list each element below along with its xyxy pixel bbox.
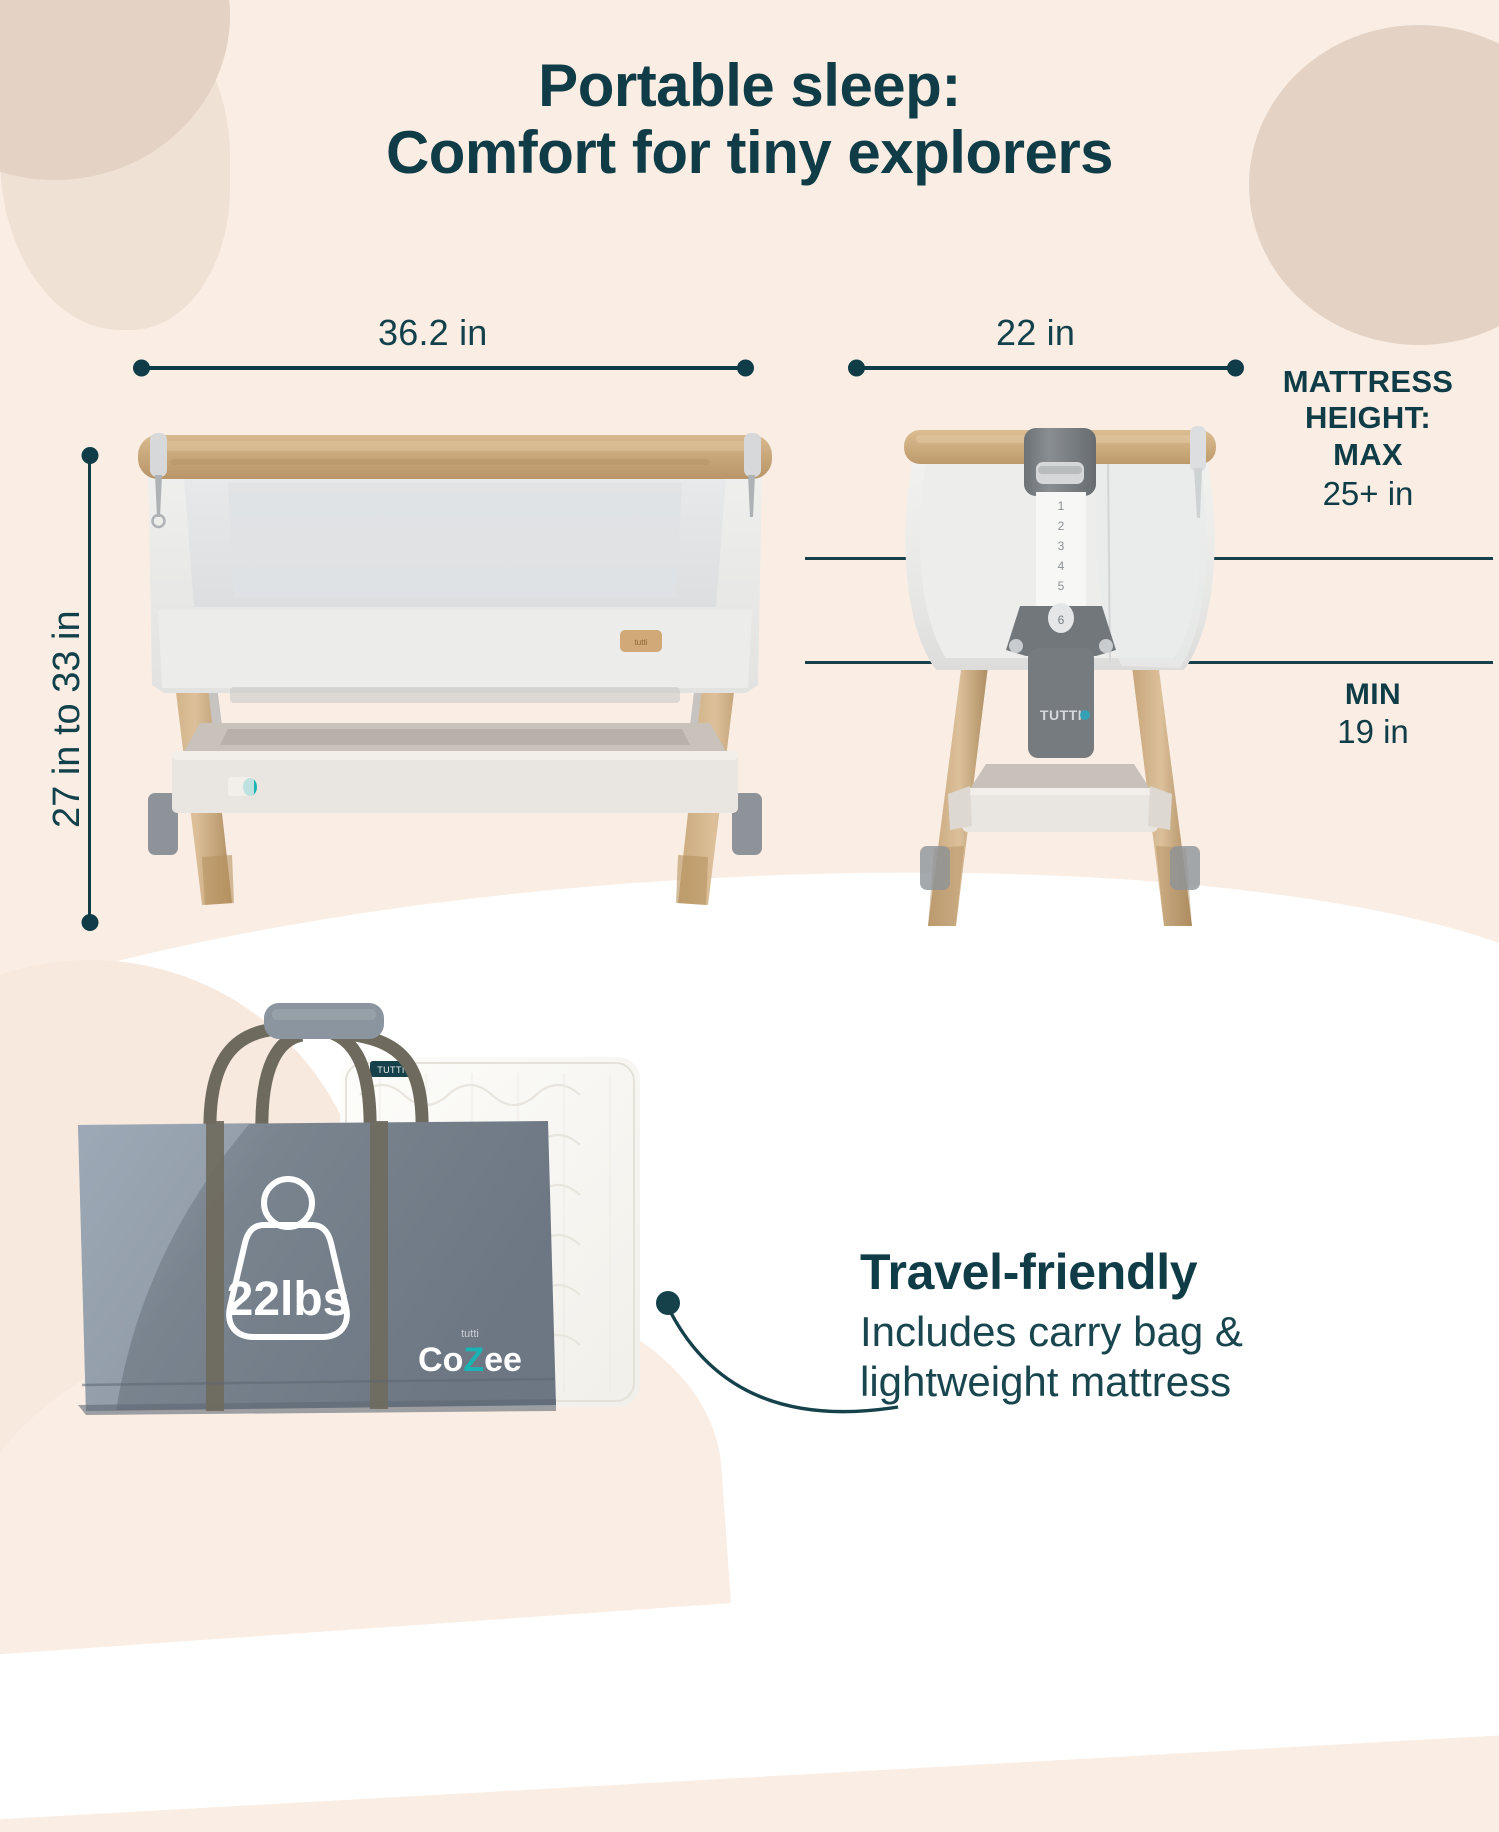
bassinet-front-view: tutti bbox=[110, 425, 800, 940]
feature-heading: Travel-friendly bbox=[860, 1243, 1460, 1301]
svg-text:3: 3 bbox=[1058, 539, 1065, 553]
mattress-height-title-2: HEIGHT: bbox=[1248, 400, 1488, 436]
travel-friendly-feature: Travel-friendly Includes carry bag & lig… bbox=[860, 1243, 1460, 1406]
feature-line-1: Includes carry bag & bbox=[860, 1307, 1460, 1357]
svg-text:1: 1 bbox=[1058, 499, 1065, 513]
feature-description: Includes carry bag & lightweight mattres… bbox=[860, 1307, 1460, 1406]
svg-text:6: 6 bbox=[1058, 613, 1065, 627]
bassinet-side-view: 1 2 3 4 5 6 TUTTI bbox=[860, 418, 1260, 948]
front-width-label: 36.2 in bbox=[378, 312, 488, 354]
mattress-height-max-value: 25+ in bbox=[1248, 475, 1488, 513]
svg-text:TUTTI: TUTTI bbox=[377, 1065, 405, 1075]
mattress-height-max-callout: MATTRESS HEIGHT: MAX 25+ in bbox=[1248, 364, 1488, 513]
svg-text:5: 5 bbox=[1058, 579, 1065, 593]
mattress-height-title-1: MATTRESS bbox=[1248, 364, 1488, 400]
headline-line-2: Comfort for tiny explorers bbox=[0, 119, 1499, 186]
carry-bag-weight-text: 22lbs bbox=[227, 1273, 350, 1326]
infographic-canvas: Portable sleep: Comfort for tiny explore… bbox=[0, 0, 1499, 1500]
mattress-height-min-callout: MIN 19 in bbox=[1278, 678, 1468, 751]
mattress-height-title-3: MAX bbox=[1248, 437, 1488, 473]
front-height-label: 27 in to 33 in bbox=[46, 610, 89, 828]
feature-line-2: lightweight mattress bbox=[860, 1357, 1460, 1407]
svg-text:4: 4 bbox=[1058, 559, 1065, 573]
mattress-height-min-label: MIN bbox=[1278, 678, 1468, 712]
mattress-height-min-value: 19 in bbox=[1278, 713, 1468, 751]
svg-text:CoZee: CoZee bbox=[418, 1341, 522, 1379]
side-width-label: 22 in bbox=[996, 312, 1075, 354]
svg-text:2: 2 bbox=[1058, 519, 1065, 533]
svg-text:tutti: tutti bbox=[461, 1328, 479, 1340]
page-title: Portable sleep: Comfort for tiny explore… bbox=[0, 52, 1499, 186]
svg-text:tutti: tutti bbox=[635, 638, 648, 647]
headline-line-1: Portable sleep: bbox=[538, 52, 961, 119]
front-width-dimension-line bbox=[137, 366, 750, 370]
side-width-dimension-line bbox=[852, 366, 1240, 370]
svg-text:TUTTI: TUTTI bbox=[1040, 707, 1082, 723]
